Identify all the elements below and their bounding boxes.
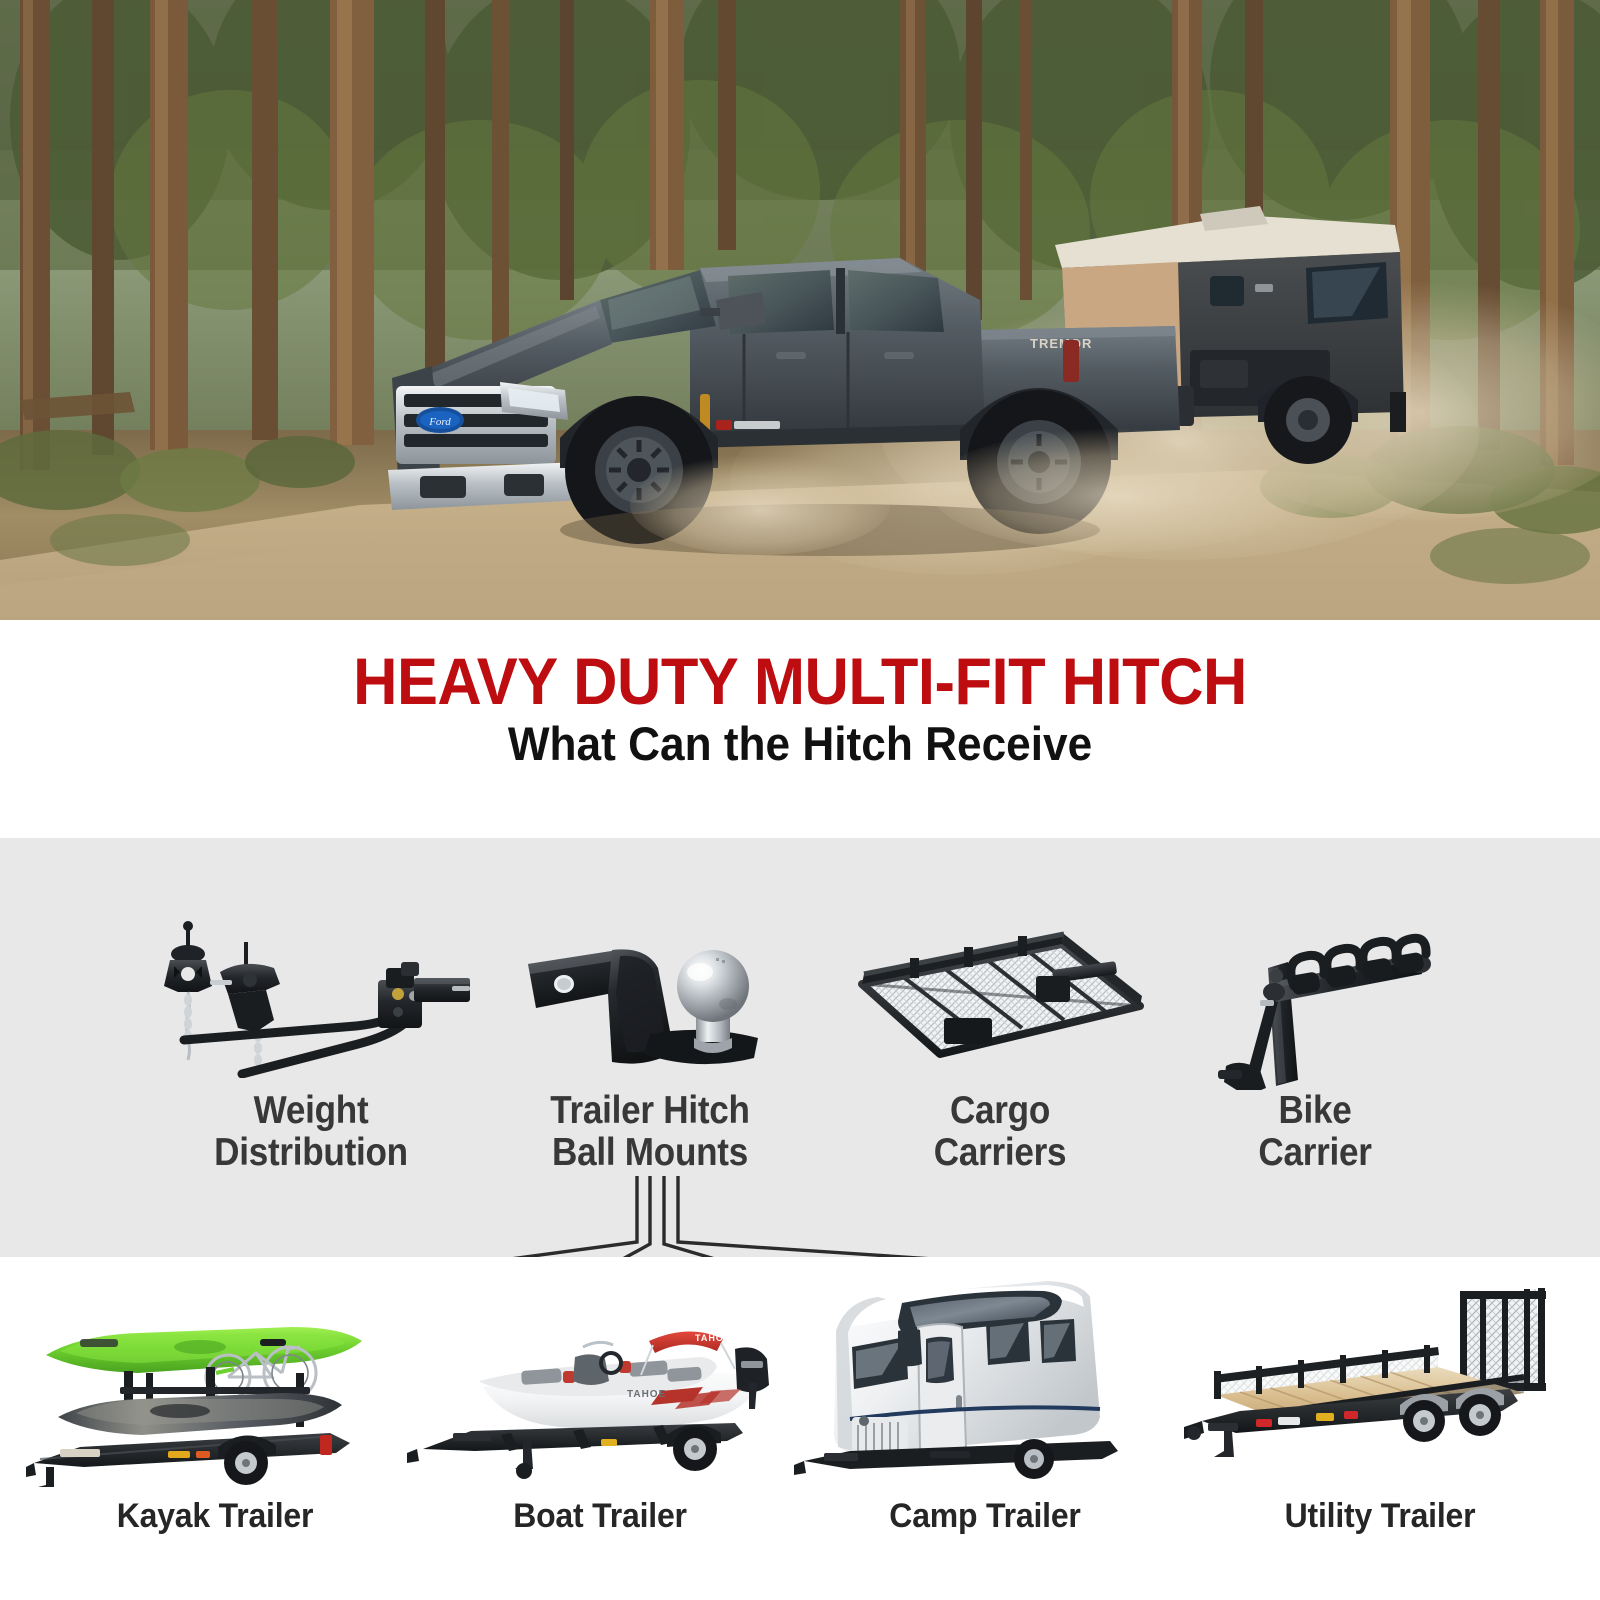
trailers-section: Kayak Trailer [0, 1257, 1600, 1600]
trailer-boat: TAHOE TAHOE [405, 1257, 795, 1600]
accessory-label-line1: Cargo [856, 1090, 1144, 1132]
page-subtitle: What Can the Hitch Receive [48, 720, 1552, 767]
trailer-kayak: Kayak Trailer [20, 1257, 410, 1600]
weight-distribution-hitch-icon [146, 908, 476, 1078]
accessory-weight-distribution: Weight Distribution [146, 838, 476, 1257]
cargo-carrier-icon [840, 914, 1160, 1084]
accessory-label-line2: Carrier [1203, 1132, 1428, 1174]
accessory-cargo-carriers: Cargo Carriers [840, 838, 1160, 1257]
accessory-bike-carrier: Bike Carrier [1190, 838, 1440, 1257]
hero-illustration: TREMOR Ford [0, 0, 1600, 620]
accessory-label-cargo-carriers: Cargo Carriers [856, 1090, 1144, 1174]
trailer-camp: Camp Trailer [790, 1257, 1180, 1600]
trailer-label-kayak: Kayak Trailer [32, 1497, 399, 1536]
svg-text:Ford: Ford [428, 416, 451, 428]
svg-text:TAHOE: TAHOE [695, 1333, 731, 1343]
accessory-label-line1: Trailer Hitch [515, 1090, 785, 1132]
trailer-label-utility: Utility Trailer [1192, 1497, 1568, 1536]
accessory-label-line2: Distribution [163, 1132, 460, 1174]
accessory-label-weight-distribution: Weight Distribution [163, 1090, 460, 1174]
trailer-utility: Utility Trailer [1180, 1257, 1580, 1600]
accessory-label-line2: Ball Mounts [515, 1132, 785, 1174]
accessory-label-line2: Carriers [856, 1132, 1144, 1174]
accessory-label-bike-carrier: Bike Carrier [1203, 1090, 1428, 1174]
trailer-label-boat: Boat Trailer [417, 1497, 784, 1536]
page-title: HEAVY DUTY MULTI-FIT HITCH [56, 648, 1544, 714]
accessory-label-line1: Weight [163, 1090, 460, 1132]
svg-text:TREMOR: TREMOR [1030, 336, 1092, 351]
trailer-label-camp: Camp Trailer [802, 1497, 1169, 1536]
bike-carrier-icon [1190, 910, 1440, 1090]
accessory-label-ball-mounts: Trailer Hitch Ball Mounts [515, 1090, 785, 1174]
accessory-ball-mounts: Trailer Hitch Ball Mounts [500, 838, 800, 1257]
accessories-section: Weight Distribution [0, 838, 1600, 1257]
kayak-trailer-icon [20, 1277, 410, 1487]
camp-trailer-icon [790, 1265, 1180, 1480]
title-band: HEAVY DUTY MULTI-FIT HITCH What Can the … [0, 620, 1600, 838]
boat-trailer-icon: TAHOE TAHOE [405, 1291, 795, 1481]
utility-trailer-icon [1180, 1271, 1580, 1481]
accessory-label-line1: Bike [1203, 1090, 1428, 1132]
ball-mount-icon [500, 916, 800, 1086]
svg-text:TAHOE: TAHOE [627, 1389, 666, 1400]
hero-photo: TREMOR Ford [0, 0, 1600, 620]
